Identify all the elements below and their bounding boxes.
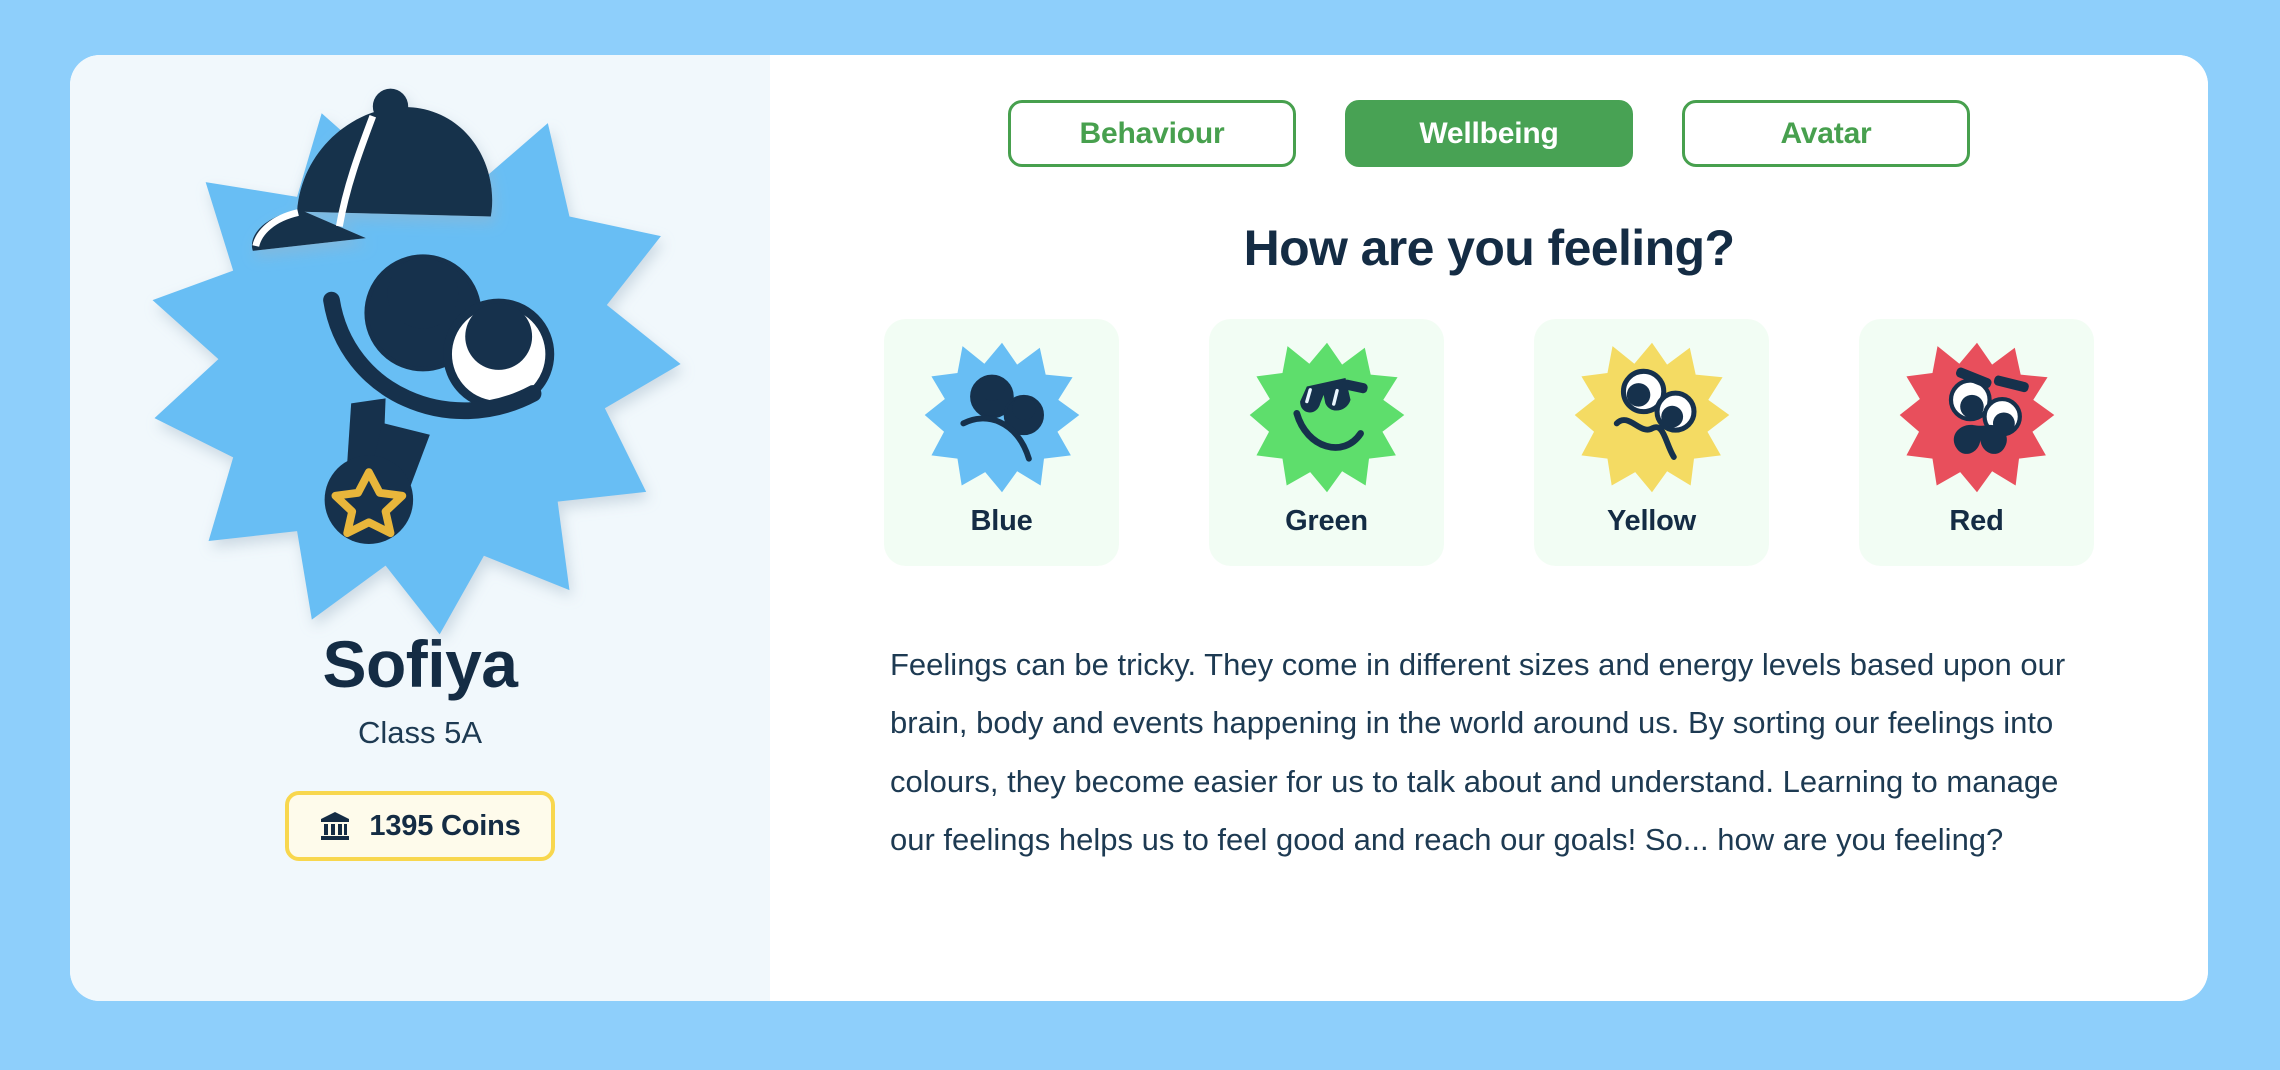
mood-yellow-icon [1568, 331, 1736, 499]
mood-card-green[interactable]: Green [1209, 319, 1444, 566]
mood-red-icon [1893, 331, 2061, 499]
mood-blue-icon [918, 331, 1086, 499]
coins-badge[interactable]: 1395 Coins [285, 791, 554, 861]
wellbeing-description: Feelings can be tricky. They come in dif… [890, 636, 2070, 869]
tab-avatar[interactable]: Avatar [1682, 100, 1970, 167]
tab-behaviour[interactable]: Behaviour [1008, 100, 1296, 167]
mood-green-icon [1243, 331, 1411, 499]
app-panel: Sofiya Class 5A 1395 Coins Behaviour Wel… [70, 55, 2208, 1001]
mood-label-yellow: Yellow [1607, 505, 1696, 538]
mood-label-green: Green [1285, 505, 1368, 538]
mood-card-yellow[interactable]: Yellow [1534, 319, 1769, 566]
star-blob-avatar-icon [120, 69, 720, 659]
tab-bar: Behaviour Wellbeing Avatar [1008, 100, 1970, 167]
mood-options: Blue Green [884, 319, 2094, 566]
student-sidebar: Sofiya Class 5A 1395 Coins [70, 55, 770, 1001]
mood-label-red: Red [1949, 505, 2003, 538]
mood-card-blue[interactable]: Blue [884, 319, 1119, 566]
mood-label-blue: Blue [970, 505, 1032, 538]
bank-icon [319, 810, 351, 842]
avatar[interactable] [120, 69, 720, 659]
coins-label: 1395 Coins [369, 810, 520, 843]
mood-card-red[interactable]: Red [1859, 319, 2094, 566]
wellbeing-content: Behaviour Wellbeing Avatar How are you f… [770, 55, 2208, 1001]
student-class: Class 5A [358, 715, 482, 751]
tab-wellbeing[interactable]: Wellbeing [1345, 100, 1633, 167]
page-title: How are you feeling? [1244, 219, 1735, 277]
